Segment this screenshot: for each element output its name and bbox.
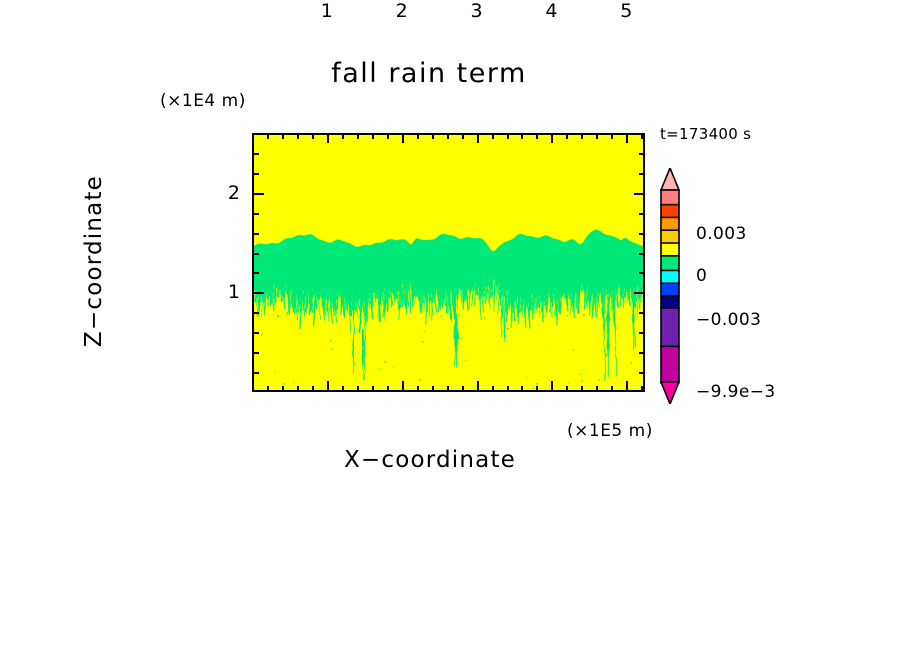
time-stamp-annotation: t=173400 s bbox=[660, 125, 751, 143]
y-tick-right-minor bbox=[639, 312, 644, 314]
x-tick-minor bbox=[566, 386, 568, 392]
x-tick-major bbox=[477, 381, 479, 392]
x-tick-minor bbox=[357, 386, 359, 392]
x-tick-top-minor bbox=[521, 134, 523, 139]
x-tick-top-minor bbox=[267, 134, 269, 139]
x-tick-top-minor bbox=[417, 134, 419, 139]
y-tick-minor bbox=[253, 332, 259, 334]
x-tick-minor bbox=[417, 386, 419, 392]
x-tick-major bbox=[402, 381, 404, 392]
x-tick-top-minor bbox=[297, 134, 299, 139]
colorbar-tick-label: −0.003 bbox=[696, 310, 761, 330]
x-tick-label: 3 bbox=[471, 0, 483, 22]
x-tick-minor bbox=[432, 386, 434, 392]
y-tick-major bbox=[253, 193, 264, 195]
x-tick-top-major bbox=[477, 134, 479, 143]
y-tick-right-minor bbox=[639, 173, 644, 175]
x-tick-minor bbox=[507, 386, 509, 392]
y-tick-right-minor bbox=[639, 253, 644, 255]
x-tick-minor bbox=[536, 386, 538, 392]
x-tick-minor bbox=[342, 386, 344, 392]
x-tick-top-minor bbox=[357, 134, 359, 139]
x-tick-top-minor bbox=[372, 134, 374, 139]
x-tick-minor bbox=[611, 386, 613, 392]
y-tick-minor bbox=[253, 153, 259, 155]
colorbar-tick-label: 0 bbox=[696, 266, 707, 286]
y-tick-right-minor bbox=[639, 272, 644, 274]
y-tick-right-minor bbox=[639, 213, 644, 215]
y-axis-unit-label: (×1E4 m) bbox=[160, 91, 246, 111]
x-tick-top-major bbox=[551, 134, 553, 143]
y-axis-title: Z−coordinate bbox=[81, 101, 107, 421]
plot-title-text: fall rain term bbox=[331, 58, 527, 89]
x-tick-minor bbox=[521, 386, 523, 392]
y-tick-minor bbox=[253, 253, 259, 255]
x-tick-top-minor bbox=[641, 134, 643, 139]
x-tick-top-minor bbox=[611, 134, 613, 139]
x-tick-top-minor bbox=[387, 134, 389, 139]
x-tick-top-major bbox=[327, 134, 329, 143]
x-tick-top-minor bbox=[581, 134, 583, 139]
x-axis-title: X−coordinate bbox=[0, 447, 904, 473]
x-tick-minor bbox=[447, 386, 449, 392]
colorbar-tick-label: −9.9e−3 bbox=[696, 382, 776, 402]
y-tick-right-minor bbox=[639, 352, 644, 354]
x-tick-minor bbox=[387, 386, 389, 392]
x-tick-label: 1 bbox=[321, 0, 333, 22]
colorbar bbox=[659, 168, 681, 404]
y-tick-label: 2 bbox=[210, 182, 240, 204]
x-tick-top-minor bbox=[596, 134, 598, 139]
x-tick-minor bbox=[312, 386, 314, 392]
y-tick-right-major bbox=[634, 292, 644, 294]
y-tick-label: 1 bbox=[210, 281, 240, 303]
page-title: fall rain term bbox=[0, 58, 904, 89]
y-tick-right-minor bbox=[639, 332, 644, 334]
x-tick-major bbox=[551, 381, 553, 392]
y-tick-minor bbox=[253, 272, 259, 274]
x-tick-minor bbox=[372, 386, 374, 392]
plot-area bbox=[252, 133, 645, 392]
y-tick-right-minor bbox=[639, 372, 644, 374]
x-tick-top-minor bbox=[507, 134, 509, 139]
x-tick-minor bbox=[297, 386, 299, 392]
y-tick-right-minor bbox=[639, 153, 644, 155]
x-axis-unit-label: (×1E5 m) bbox=[567, 421, 653, 441]
x-tick-major bbox=[327, 381, 329, 392]
x-tick-top-minor bbox=[447, 134, 449, 139]
x-tick-minor bbox=[581, 386, 583, 392]
x-tick-top-minor bbox=[566, 134, 568, 139]
y-tick-minor bbox=[253, 213, 259, 215]
y-tick-right-minor bbox=[639, 233, 644, 235]
x-tick-label: 4 bbox=[545, 0, 557, 22]
x-tick-top-minor bbox=[536, 134, 538, 139]
x-tick-label: 5 bbox=[620, 0, 632, 22]
y-tick-minor bbox=[253, 352, 259, 354]
x-tick-top-minor bbox=[492, 134, 494, 139]
x-tick-top-minor bbox=[312, 134, 314, 139]
x-tick-top-major bbox=[402, 134, 404, 143]
x-tick-top-minor bbox=[462, 134, 464, 139]
x-tick-minor bbox=[492, 386, 494, 392]
x-tick-label: 2 bbox=[396, 0, 408, 22]
x-tick-top-minor bbox=[342, 134, 344, 139]
x-tick-top-major bbox=[626, 134, 628, 143]
y-tick-minor bbox=[253, 312, 259, 314]
x-tick-major bbox=[626, 381, 628, 392]
y-tick-major bbox=[253, 292, 264, 294]
y-tick-minor bbox=[253, 372, 259, 374]
contour-field-canvas bbox=[254, 135, 643, 390]
x-tick-minor bbox=[282, 386, 284, 392]
x-tick-top-minor bbox=[282, 134, 284, 139]
x-tick-minor bbox=[641, 386, 643, 392]
x-tick-minor bbox=[267, 386, 269, 392]
y-tick-right-major bbox=[634, 193, 644, 195]
x-tick-minor bbox=[462, 386, 464, 392]
colorbar-tick-label: 0.003 bbox=[696, 224, 747, 244]
y-tick-minor bbox=[253, 233, 259, 235]
x-axis-title-text: X−coordinate bbox=[344, 447, 516, 473]
y-tick-minor bbox=[253, 173, 259, 175]
x-tick-minor bbox=[596, 386, 598, 392]
x-tick-top-minor bbox=[432, 134, 434, 139]
